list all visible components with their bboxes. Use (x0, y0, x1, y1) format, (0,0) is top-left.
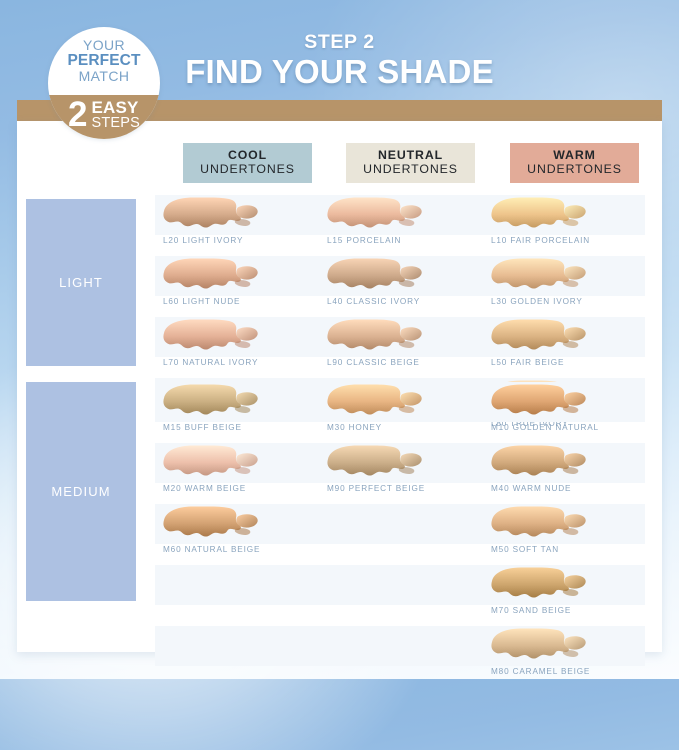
shade-swatch[interactable] (325, 318, 425, 356)
shade-cell[interactable]: M70 SAND BEIGE (489, 565, 644, 626)
foundation-swatch-icon (161, 318, 261, 356)
shade-swatch[interactable] (325, 383, 425, 421)
column-header-neutral: NEUTRAL UNDERTONES (346, 143, 475, 183)
badge-step-words: EASY STEPS (91, 99, 140, 131)
foundation-swatch-icon (489, 444, 589, 482)
shade-swatch[interactable] (161, 383, 261, 421)
shade-cell[interactable]: L70 NATURAL IVORY (161, 317, 316, 378)
badge-lower-text: 2 EASY STEPS (48, 97, 160, 132)
badge-word-easy: EASY (91, 99, 140, 116)
shade-name-label: L15 PORCELAIN (327, 236, 487, 245)
shade-cell[interactable]: M90 PERFECT BEIGE (325, 443, 480, 504)
shade-swatch[interactable] (489, 196, 589, 234)
shade-swatch[interactable] (161, 505, 261, 543)
shade-swatch[interactable] (325, 196, 425, 234)
shade-cell[interactable]: M60 NATURAL BEIGE (161, 504, 316, 565)
shade-row: M60 NATURAL BEIGE M50 SOFT TAN (155, 504, 645, 565)
shade-name-label: L10 FAIR PORCELAIN (491, 236, 651, 245)
shade-swatch[interactable] (161, 318, 261, 356)
foundation-swatch-icon (489, 627, 589, 665)
shade-cell[interactable]: L90 CLASSIC BEIGE (325, 317, 480, 378)
shade-cell[interactable]: M50 SOFT TAN (489, 504, 644, 565)
shade-name-label: L60 LIGHT NUDE (163, 297, 323, 306)
shade-grid-medium: M15 BUFF BEIGE M30 HONEY (155, 382, 645, 687)
foundation-swatch-icon (325, 383, 425, 421)
column-header-cool-title: COOL (228, 149, 267, 163)
shade-swatch[interactable] (161, 444, 261, 482)
badge-line-3: MATCH (48, 69, 160, 84)
shade-name-label: M60 NATURAL BEIGE (163, 545, 323, 554)
badge-upper-text: YOUR PERFECT MATCH (48, 38, 160, 84)
shade-name-label: M70 SAND BEIGE (491, 606, 651, 615)
foundation-swatch-icon (489, 318, 589, 356)
shade-swatch[interactable] (489, 257, 589, 295)
shade-name-label: L50 FAIR BEIGE (491, 358, 651, 367)
column-header-warm: WARM UNDERTONES (510, 143, 639, 183)
shade-cell[interactable]: M20 WARM BEIGE (161, 443, 316, 504)
badge-word-steps: STEPS (91, 116, 140, 131)
shade-row: M80 CARAMEL BEIGE (155, 626, 645, 687)
shade-row: M70 SAND BEIGE (155, 565, 645, 626)
shade-name-label: L90 CLASSIC BEIGE (327, 358, 487, 367)
shade-name-label: L20 LIGHT IVORY (163, 236, 323, 245)
foundation-swatch-icon (325, 196, 425, 234)
shade-name-label: M40 WARM NUDE (491, 484, 651, 493)
shade-name-label: M90 PERFECT BEIGE (327, 484, 487, 493)
shade-cell[interactable]: L20 LIGHT IVORY (161, 195, 316, 256)
shade-name-label: M15 BUFF BEIGE (163, 423, 323, 432)
shade-row: L70 NATURAL IVORY L90 CLASSIC BEIGE (155, 317, 645, 378)
column-header-warm-title: WARM (553, 149, 596, 163)
column-header-warm-sub: UNDERTONES (527, 163, 622, 177)
shade-name-label: L30 GOLDEN IVORY (491, 297, 651, 306)
foundation-swatch-icon (161, 257, 261, 295)
foundation-swatch-icon (489, 383, 589, 421)
shade-row: M20 WARM BEIGE M90 PERFECT BEIGE (155, 443, 645, 504)
shade-cell[interactable]: L40 CLASSIC IVORY (325, 256, 480, 317)
shade-swatch[interactable] (325, 444, 425, 482)
shade-cell[interactable]: M80 CARAMEL BEIGE (489, 626, 644, 687)
shade-row: L20 LIGHT IVORY L15 PORCELAIN (155, 195, 645, 256)
shade-cell[interactable]: L15 PORCELAIN (325, 195, 480, 256)
shade-swatch[interactable] (161, 196, 261, 234)
shade-cell[interactable]: L50 FAIR BEIGE (489, 317, 644, 378)
foundation-swatch-icon (489, 566, 589, 604)
shade-cell[interactable]: M10 GOLDEN NATURAL (489, 382, 644, 443)
shade-cell[interactable]: M30 HONEY (325, 382, 480, 443)
shade-name-label: M20 WARM BEIGE (163, 484, 323, 493)
foundation-swatch-icon (489, 196, 589, 234)
section-block-medium: MEDIUM (26, 382, 136, 601)
foundation-swatch-icon (325, 444, 425, 482)
perfect-match-badge: YOUR PERFECT MATCH 2 EASY STEPS (48, 27, 160, 139)
shade-name-label: M50 SOFT TAN (491, 545, 651, 554)
badge-line-2: PERFECT (48, 53, 160, 69)
foundation-swatch-icon (161, 383, 261, 421)
shade-swatch[interactable] (489, 505, 589, 543)
foundation-swatch-icon (161, 444, 261, 482)
badge-step-number: 2 (68, 97, 87, 132)
shade-cell[interactable]: M15 BUFF BEIGE (161, 382, 316, 443)
shade-row: M15 BUFF BEIGE M30 HONEY (155, 382, 645, 443)
foundation-swatch-icon (489, 505, 589, 543)
shade-name-label: M80 CARAMEL BEIGE (491, 667, 651, 676)
shade-name-label: M30 HONEY (327, 423, 487, 432)
shade-cell[interactable]: L10 FAIR PORCELAIN (489, 195, 644, 256)
foundation-swatch-icon (161, 505, 261, 543)
section-block-light: LIGHT (26, 199, 136, 366)
shade-swatch[interactable] (489, 627, 589, 665)
shade-swatch[interactable] (489, 566, 589, 604)
column-header-cool: COOL UNDERTONES (183, 143, 312, 183)
foundation-swatch-icon (161, 196, 261, 234)
foundation-swatch-icon (489, 257, 589, 295)
foundation-swatch-icon (325, 257, 425, 295)
shade-name-label: M10 GOLDEN NATURAL (491, 423, 651, 432)
shade-swatch[interactable] (325, 257, 425, 295)
shade-cell[interactable]: L30 GOLDEN IVORY (489, 256, 644, 317)
shade-swatch[interactable] (489, 318, 589, 356)
undertone-column-headers: COOL UNDERTONES NEUTRAL UNDERTONES WARM … (17, 143, 662, 183)
shade-swatch[interactable] (161, 257, 261, 295)
shade-name-label: L70 NATURAL IVORY (163, 358, 323, 367)
shade-swatch[interactable] (489, 444, 589, 482)
badge-line-1: YOUR (48, 38, 160, 53)
foundation-swatch-icon (325, 318, 425, 356)
column-header-neutral-title: NEUTRAL (378, 149, 443, 163)
shade-row: L60 LIGHT NUDE L40 CLASSIC IVORY (155, 256, 645, 317)
shade-cell[interactable]: M40 WARM NUDE (489, 443, 644, 504)
shade-name-label: L40 CLASSIC IVORY (327, 297, 487, 306)
shade-swatch[interactable] (489, 383, 589, 421)
column-header-cool-sub: UNDERTONES (200, 163, 295, 177)
column-header-neutral-sub: UNDERTONES (363, 163, 458, 177)
shade-cell[interactable]: L60 LIGHT NUDE (161, 256, 316, 317)
